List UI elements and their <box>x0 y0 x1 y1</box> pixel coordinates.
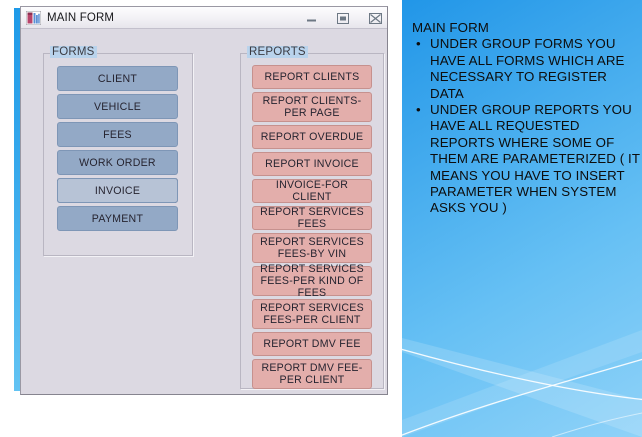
bullet-icon: • <box>412 36 430 52</box>
forms-group: FORMS CLIENT VEHICLE FEES WORK ORDER INV… <box>43 53 193 256</box>
form-button-payment[interactable]: PAYMENT <box>57 206 178 231</box>
window-title: MAIN FORM <box>47 12 114 24</box>
screenshot-root: MAIN FORM • UNDER GROUP FORMS YOU HAVE A… <box>0 0 642 437</box>
button-label: INVOICE-FOR CLIENT <box>253 179 371 203</box>
report-button-invoice[interactable]: REPORT INVOICE <box>252 152 372 176</box>
window-titlebar[interactable]: MAIN FORM <box>21 7 387 29</box>
reports-group: REPORTS REPORT CLIENTS REPORT CLIENTS-PE… <box>240 53 384 389</box>
button-label: WORK ORDER <box>76 157 159 169</box>
report-button-services-fees-by-vin[interactable]: REPORT SERVICES FEES-BY VIN <box>252 233 372 263</box>
window-body: FORMS CLIENT VEHICLE FEES WORK ORDER INV… <box>21 29 387 394</box>
button-label: REPORT SERVICES FEES-PER CLIENT <box>253 302 371 326</box>
minimize-button[interactable] <box>303 11 319 25</box>
form-button-client[interactable]: CLIENT <box>57 66 178 91</box>
report-button-overdue[interactable]: REPORT OVERDUE <box>252 125 372 149</box>
notes-bullet-2: • UNDER GROUP REPORTS YOU HAVE ALL REQUE… <box>412 102 640 217</box>
notes-title: MAIN FORM <box>412 20 640 36</box>
report-button-clients[interactable]: REPORT CLIENTS <box>252 65 372 89</box>
button-label: REPORT DMV FEE-PER CLIENT <box>253 362 371 386</box>
restore-button[interactable] <box>335 11 351 25</box>
report-button-services-fees-per-kind[interactable]: REPORT SERVICES FEES-PER KIND OF FEES <box>252 266 372 296</box>
button-label: REPORT SERVICES FEES-PER KIND OF FEES <box>253 263 371 299</box>
notes-panel: MAIN FORM • UNDER GROUP FORMS YOU HAVE A… <box>402 0 642 437</box>
bullet-icon: • <box>412 102 430 118</box>
button-label: VEHICLE <box>91 101 144 113</box>
form-button-fees[interactable]: FEES <box>57 122 178 147</box>
reports-group-legend: REPORTS <box>247 46 308 58</box>
button-label: REPORT DMV FEE <box>260 338 363 350</box>
button-label: PAYMENT <box>89 213 146 225</box>
notes-bullet-2-text: UNDER GROUP REPORTS YOU HAVE ALL REQUEST… <box>430 102 640 217</box>
report-button-services-fees-per-client[interactable]: REPORT SERVICES FEES-PER CLIENT <box>252 299 372 329</box>
button-label: REPORT INVOICE <box>262 158 362 170</box>
button-label: REPORT OVERDUE <box>258 131 367 143</box>
button-label: REPORT SERVICES FEES-BY VIN <box>253 236 371 260</box>
access-form-icon <box>26 11 41 25</box>
form-button-vehicle[interactable]: VEHICLE <box>57 94 178 119</box>
button-label: INVOICE <box>92 185 143 197</box>
button-label: REPORT CLIENTS-PER PAGE <box>253 95 371 119</box>
forms-group-legend: FORMS <box>50 46 97 58</box>
report-button-invoice-for-client[interactable]: INVOICE-FOR CLIENT <box>252 179 372 203</box>
button-label: REPORT CLIENTS <box>262 71 363 83</box>
button-label: CLIENT <box>95 73 140 85</box>
main-form-window: MAIN FORM <box>20 6 388 395</box>
window-controls <box>303 7 383 29</box>
report-button-services-fees[interactable]: REPORT SERVICES FEES <box>252 206 372 230</box>
notes-text-block: MAIN FORM • UNDER GROUP FORMS YOU HAVE A… <box>412 20 640 217</box>
notes-bullet-1-text: UNDER GROUP FORMS YOU HAVE ALL FORMS WHI… <box>430 36 640 102</box>
button-label: FEES <box>100 129 135 141</box>
close-button[interactable] <box>367 11 383 25</box>
report-button-dmv-fee[interactable]: REPORT DMV FEE <box>252 332 372 356</box>
report-button-clients-per-page[interactable]: REPORT CLIENTS-PER PAGE <box>252 92 372 122</box>
notes-bullet-1: • UNDER GROUP FORMS YOU HAVE ALL FORMS W… <box>412 36 640 102</box>
form-button-invoice[interactable]: INVOICE <box>57 178 178 203</box>
report-button-dmv-fee-per-client[interactable]: REPORT DMV FEE-PER CLIENT <box>252 359 372 389</box>
button-label: REPORT SERVICES FEES <box>253 206 371 230</box>
form-button-work-order[interactable]: WORK ORDER <box>57 150 178 175</box>
